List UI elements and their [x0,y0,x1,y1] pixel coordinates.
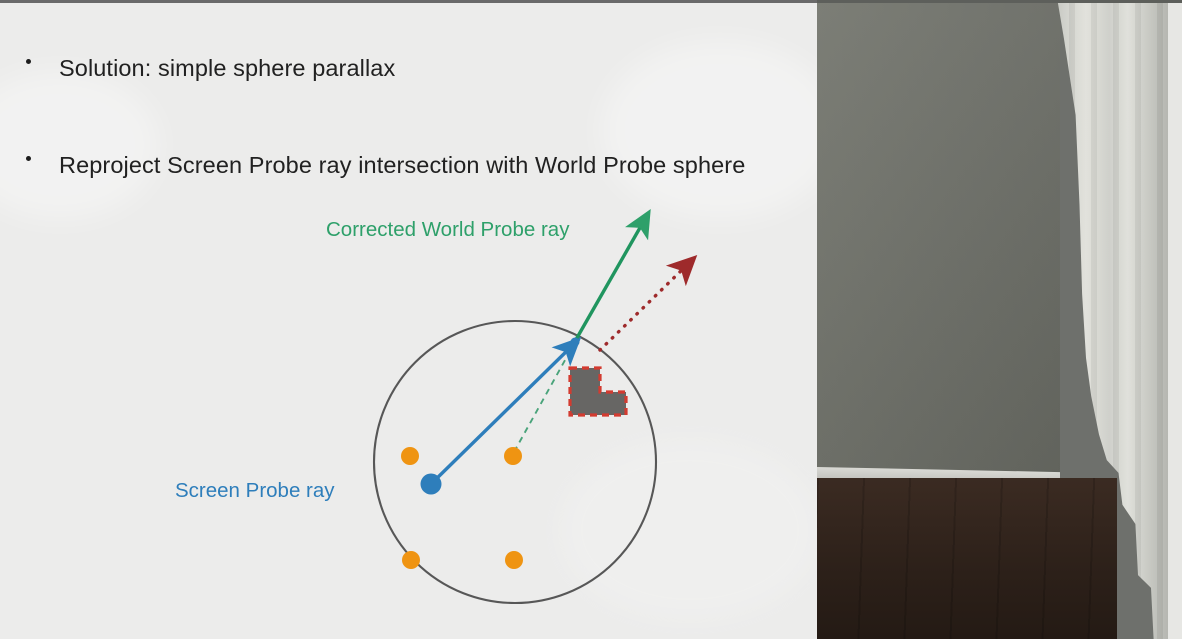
room-camera-view [817,0,1182,639]
room-floor [817,478,1117,639]
screen-probe-origin-dot [421,474,442,495]
world-probe-dot [504,447,522,465]
screen-probe-ray [431,345,573,484]
world-probe-dot [402,551,420,569]
intersection-point-dot [571,338,580,347]
presentation-slide: Solution: simple sphere parallax Reproje… [0,0,817,639]
world-probe-dot [505,551,523,569]
world-probe-dashed-line [514,344,574,452]
world-probe-dot [401,447,419,465]
sphere-parallax-diagram [0,0,817,639]
room-wall-shading [817,0,1060,480]
corrected-world-probe-ray-label: Corrected World Probe ray [326,218,569,242]
screen-probe-ray-label: Screen Probe ray [175,479,335,503]
corrected-world-probe-ray [574,219,645,343]
occluder-geometry [570,368,626,415]
room-right-edge-strip [1168,0,1182,639]
room-top-edge [817,0,1182,3]
screen-capture: Solution: simple sphere parallax Reproje… [0,0,1182,639]
